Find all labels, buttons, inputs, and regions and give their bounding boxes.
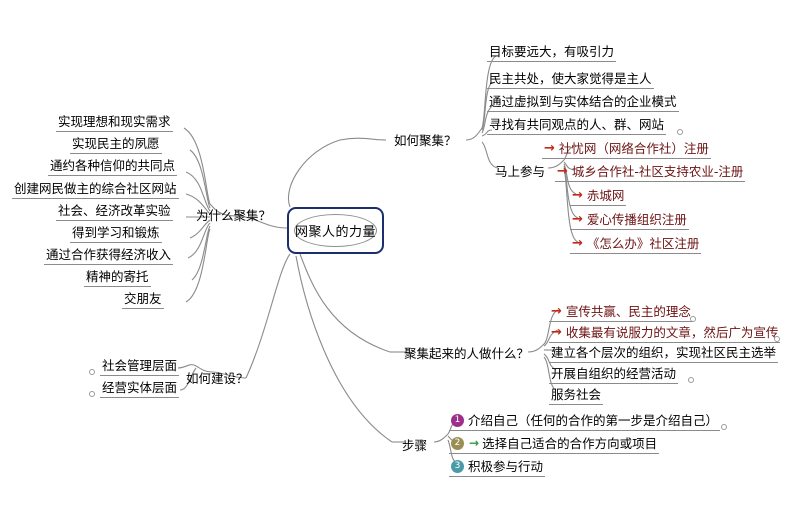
node-step-3[interactable]: 3积极参与行动 [449,458,545,477]
arrow-right-icon: → [551,325,562,340]
node-dowhat-4[interactable]: 开展自组织的经营活动 [549,365,678,384]
arrow-right-icon: → [557,164,568,179]
branch-title-build[interactable]: 如何建设？ [186,368,249,389]
node-join-3[interactable]: →赤城网 [570,187,626,206]
arrow-right-icon: → [551,304,562,319]
step-badge-1: 1 [451,414,464,427]
node-gather-3[interactable]: 通过虚拟到与实体结合的企业模式 [487,93,679,112]
arrow-right-icon: → [572,236,583,251]
node-gather-1[interactable]: 目标要远大，有吸引力 [487,43,616,62]
collapse-dot-gather-4[interactable] [677,129,683,135]
node-why-8[interactable]: 精神的寄托 [84,268,151,287]
node-dowhat-2[interactable]: →收集最有说服力的文章，然后广为宣传 [549,324,780,343]
node-why-7[interactable]: 通过合作获得经济收入 [44,246,173,265]
collapse-dot-build-2[interactable] [89,391,95,397]
branch-title-steps[interactable]: 步骤 [402,435,427,456]
root-ellipse: 网聚人的力量 [294,214,377,247]
node-join-1[interactable]: →社忧网（网络合作社）注册 [542,140,711,159]
node-why-5[interactable]: 社会、经济改革实验 [56,202,173,221]
node-dowhat-3[interactable]: 建立各个层次的组织，实现社区民主选举 [549,344,778,363]
root-label: 网聚人的力量 [295,221,376,240]
collapse-dot-dowhat-4[interactable] [688,377,694,383]
arrow-right-icon: → [544,141,555,156]
node-why-4[interactable]: 创建网民做主的综合社区网站 [12,180,179,199]
node-join-2[interactable]: →城乡合作社-社区支持农业-注册 [555,163,745,182]
node-why-6[interactable]: 得到学习和锻炼 [70,224,162,243]
branch-title-dowhat[interactable]: 聚集起来的人做什么？ [404,343,529,364]
mindmap-canvas: 网聚人的力量 为什么聚集？ 实现理想和现实需求 实现民主的夙愿 通约各种信仰的共… [0,0,808,531]
node-build-1[interactable]: 社会管理层面 [100,357,179,376]
node-why-2[interactable]: 实现民主的夙愿 [70,135,162,154]
node-why-1[interactable]: 实现理想和现实需求 [56,113,173,132]
collapse-dot-step-1[interactable] [721,424,727,430]
node-why-3[interactable]: 通约各种信仰的共同点 [48,157,177,176]
step-badge-2: 2 [451,437,464,450]
node-gather-2[interactable]: 民主共处，使大家觉得是主人 [487,70,654,89]
branch-title-gather[interactable]: 如何聚集？ [394,130,457,151]
node-build-2[interactable]: 经营实体层面 [100,379,179,398]
step-badge-3: 3 [451,460,464,473]
node-gather-4[interactable]: 寻找有共同观点的人、群、网站 [487,116,666,135]
node-dowhat-5[interactable]: 服务社会 [549,386,603,405]
node-join-4[interactable]: →爱心传播组织注册 [570,211,689,230]
arrow-right-icon: → [572,188,583,203]
node-dowhat-1[interactable]: →宣传共赢、民主的理念 [549,303,693,322]
collapse-dot-dowhat-1[interactable] [690,316,696,322]
node-step-1[interactable]: 1介绍自己（任何的合作的第一步是介绍自己） [449,412,720,431]
node-why-9[interactable]: 交朋友 [122,290,164,309]
node-gather-join-now[interactable]: 马上参与 [495,161,545,182]
collapse-dot-dowhat-2[interactable] [774,336,780,342]
branch-title-why[interactable]: 为什么聚集？ [196,205,271,226]
root-node[interactable]: 网聚人的力量 [287,207,384,254]
arrow-right-icon: → [572,212,583,227]
collapse-dot-build-1[interactable] [89,369,95,375]
node-step-2[interactable]: 2→选择自己适合的合作方向或项目 [449,435,659,454]
node-join-5[interactable]: →《怎么办》社区注册 [570,235,701,254]
arrow-right-green-icon: → [469,436,479,450]
